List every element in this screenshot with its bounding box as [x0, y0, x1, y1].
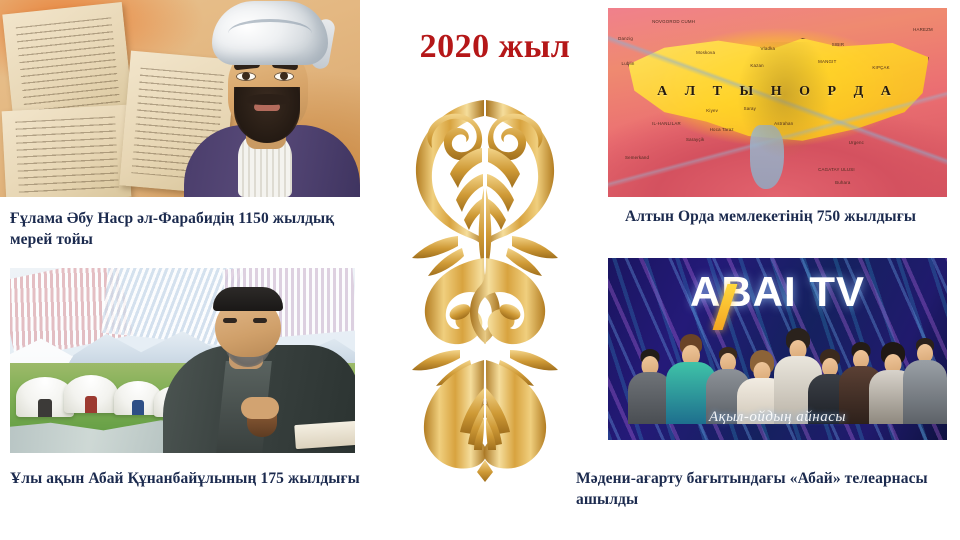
map-place-name: SIBIR	[832, 42, 844, 47]
yurt-2	[64, 375, 118, 413]
caption-abai: Ұлы ақын Абай Құнанбайұлының 175 жылдығы	[10, 468, 360, 489]
map-place-name: Kiyev	[706, 108, 718, 113]
abai-figure	[163, 283, 355, 453]
image-al-farabi-portrait	[0, 0, 360, 197]
abai-tv-tagline: Ақыл-ойдың айнасы	[608, 409, 947, 426]
image-abai-kunanbayuly	[10, 268, 355, 453]
map-place-name: Semerkand	[625, 155, 649, 160]
map-place-name: CAGATAY ULUSI	[818, 167, 855, 172]
abai-eye-right	[253, 318, 267, 323]
map-place-name: Buhara	[835, 180, 850, 185]
map-place-name: HAREZM	[913, 27, 933, 32]
map-territory-label: А Л Т Ы Н О Р Д А	[608, 84, 947, 100]
farabi-pupil-left	[242, 72, 250, 80]
map-place-name: MANGIT	[818, 59, 836, 64]
map-place-name: Astrahan	[774, 121, 793, 126]
tv-presenters-group	[608, 306, 947, 424]
map-place-name: Sarayçik	[686, 137, 704, 142]
map-place-name: Urgenc	[849, 140, 864, 145]
farabi-figure	[176, 0, 360, 197]
abai-hand	[241, 397, 279, 419]
abai-book	[294, 421, 355, 449]
map-place-name: Saray	[744, 106, 756, 111]
abai-skullcap	[213, 287, 283, 311]
map-place-name: NOVGOROD CUMH	[652, 19, 695, 24]
map-place-name: KIPÇAK	[872, 65, 889, 70]
yurt-door	[132, 400, 144, 415]
caption-al-farabi: Ғұлама Әбу Наср әл-Фарабидің 1150 жылдық…	[10, 208, 360, 251]
yurt-door	[38, 399, 52, 417]
map-place-name: Lublin	[622, 61, 635, 66]
map-place-name: Vladka	[761, 46, 776, 51]
farabi-pupil-right	[280, 72, 288, 80]
yurt-door	[85, 396, 98, 413]
image-abai-tv-promo: ABAI TV	[608, 258, 947, 440]
map-place-name: Hoca Taraz	[710, 127, 734, 132]
farabi-mustache	[246, 94, 290, 105]
abai-eye-left	[223, 318, 237, 323]
manuscript-page-3	[2, 105, 132, 197]
image-golden-horde-map: А Л Т Ы Н О Р Д А NOVGOROD CUMH Danzig L…	[608, 8, 947, 197]
map-place-name: Kazan	[750, 63, 763, 68]
caption-abai-tv: Мәдени-ағарту бағытындағы «Абай» телеарн…	[576, 468, 956, 511]
caption-golden-horde: Алтын Орда мемлекетінің 750 жылдығы	[625, 206, 955, 227]
map-place-name: IL-HANLILAR	[652, 121, 681, 126]
map-place-name: Moskova	[696, 50, 715, 55]
map-place-name: Danzig	[618, 36, 633, 41]
farabi-turban	[212, 1, 328, 65]
page-title: 2020 жыл	[380, 30, 610, 64]
gold-floral-ornament	[398, 88, 572, 482]
